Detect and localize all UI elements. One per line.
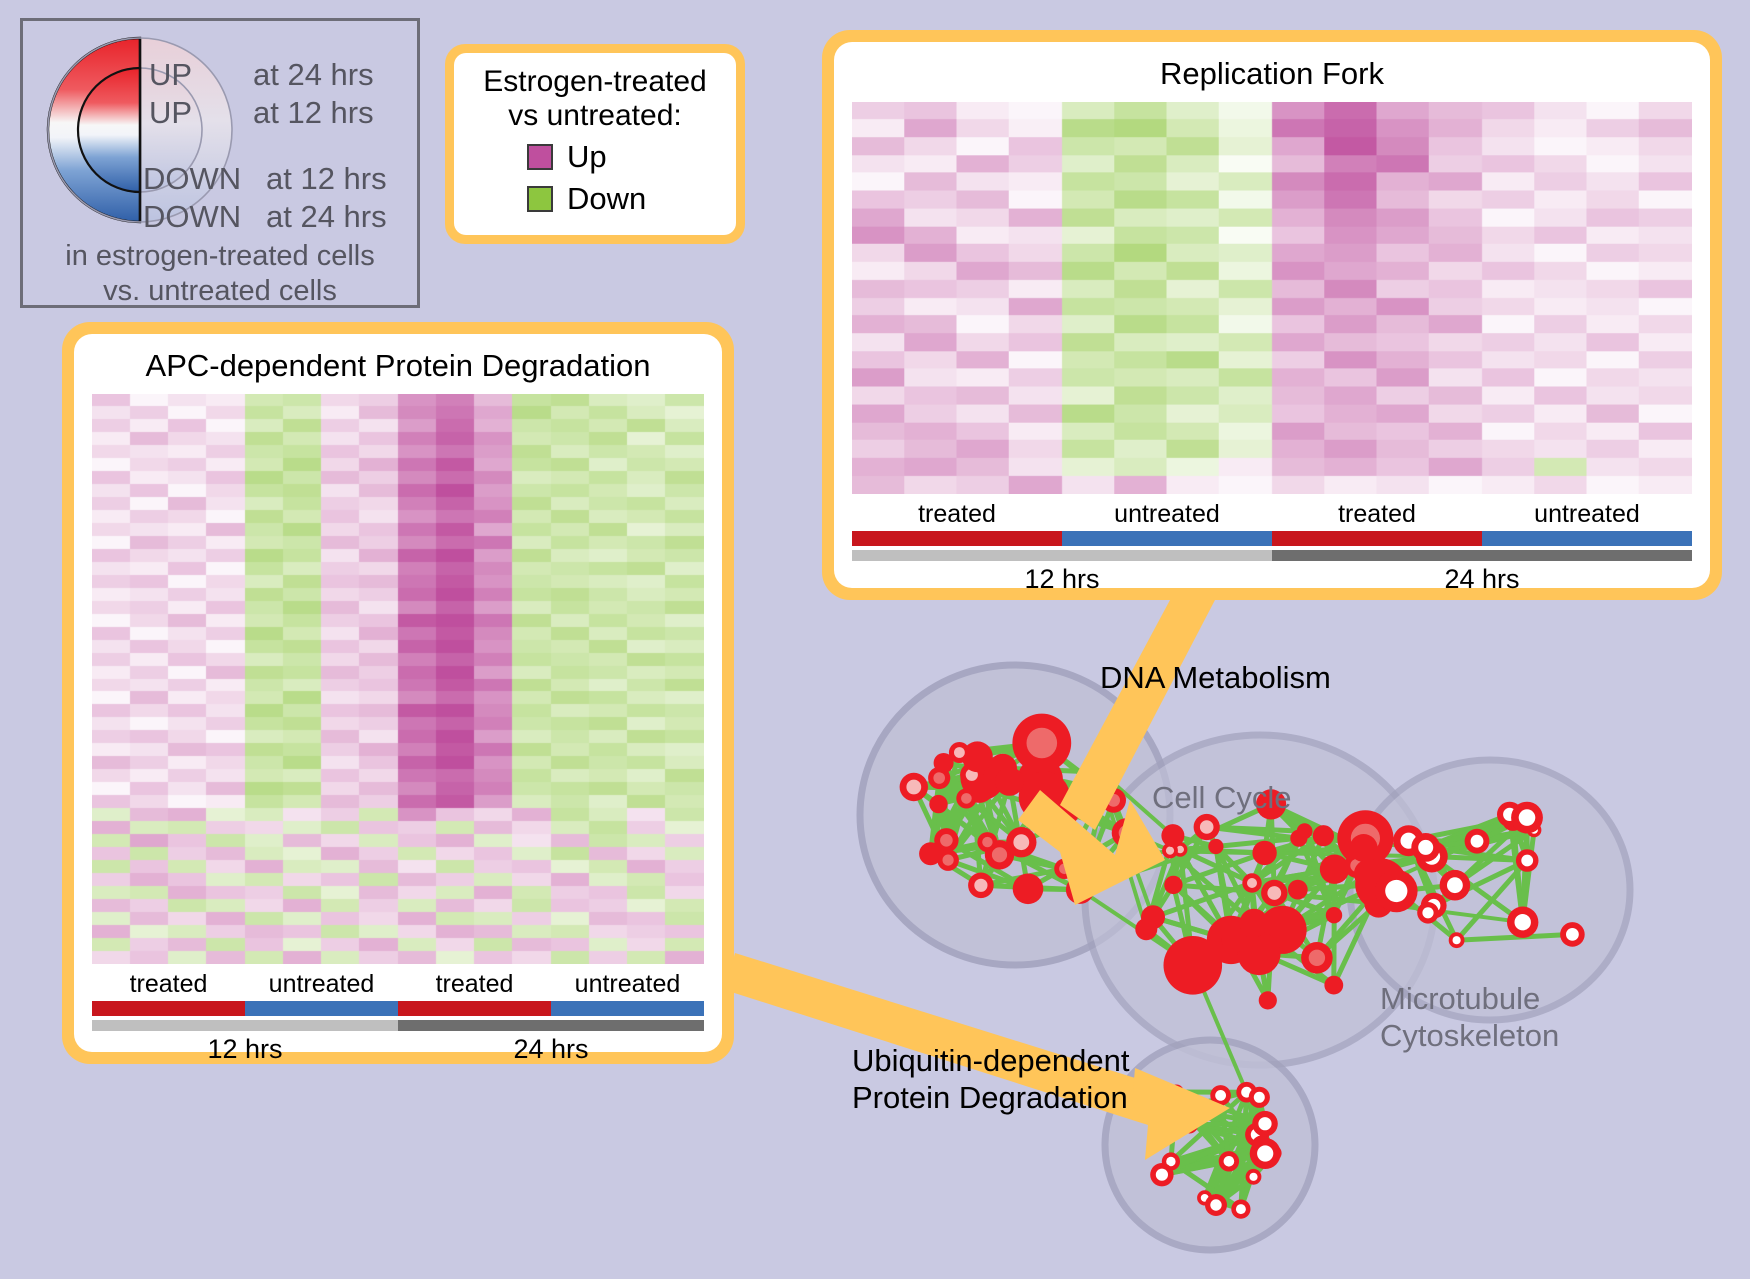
axis-apc-degradation: treateduntreatedtreateduntreated 12 hrs2… [92,970,704,1065]
panel-apc-degradation-title: APC-dependent Protein Degradation [92,348,704,384]
network-node[interactable] [1560,922,1585,947]
network-node[interactable] [1516,849,1539,872]
network-node[interactable] [1013,874,1044,905]
group-bar-replication-3 [1482,531,1692,546]
group-label-replication-2: treated [1272,500,1482,529]
group-labels-apc: treateduntreatedtreateduntreated [92,970,704,999]
axis-replication-fork: treateduntreatedtreateduntreated 12 hrs2… [852,500,1692,595]
network-node[interactable] [1135,918,1157,940]
heatmap-apc-degradation [92,394,704,964]
panel-apc-degradation: APC-dependent Protein Degradation treate… [62,322,734,1064]
network-node[interactable] [1246,1169,1262,1185]
network-node[interactable] [1324,976,1343,995]
network-node[interactable] [1240,909,1269,938]
network-node[interactable] [1205,1194,1227,1216]
legend-color-wheel: UP at 24 hrs UP at 12 hrs DOWN at 12 hrs… [20,18,420,308]
up-label: Up [567,139,663,175]
network-node[interactable] [1006,827,1036,857]
time-labels-apc: 12 hrs24 hrs [92,1034,704,1065]
network-node[interactable] [900,773,928,801]
cluster-label-microtubule-line-2: Cytoskeleton [1380,1017,1559,1054]
network-node[interactable] [1326,907,1342,923]
network-node[interactable] [1440,870,1471,901]
cluster-label-ubiquitin-degradation: Ubiquitin-dependent Protein Degradation [852,1042,1130,1116]
wheel-time-2: at 12 hrs [266,161,387,197]
group-label-apc-1: untreated [245,970,398,999]
group-bar-apc-3 [551,1001,704,1016]
group-bar-apc-1 [245,1001,398,1016]
legend-footer-line-2: vs. untreated cells [23,274,417,309]
time-bar-apc-0 [92,1020,398,1031]
time-label-replication-1: 24 hrs [1272,564,1692,595]
network-node[interactable] [1417,902,1439,924]
cluster-label-ubiquitin-line-2: Protein Degradation [852,1079,1130,1116]
legend-up-down: Estrogen-treated vs untreated: Up Down [445,44,745,244]
cluster-label-microtubule-cytoskeleton: Microtubule Cytoskeleton [1380,980,1559,1054]
network-node[interactable] [1054,859,1074,879]
group-label-replication-1: untreated [1062,500,1272,529]
network-node[interactable] [1210,1085,1231,1106]
legend-title-line-1: Estrogen-treated [464,65,726,99]
cluster-label-microtubule-line-1: Microtubule [1380,980,1559,1017]
network-node[interactable] [977,832,997,852]
network-node[interactable] [1164,876,1182,894]
network-node[interactable] [1449,932,1465,948]
down-swatch-icon [527,186,553,212]
legend-up-down-inner: Estrogen-treated vs untreated: Up Down [454,53,736,235]
network-node[interactable] [1181,1116,1199,1134]
network-node[interactable] [1313,825,1334,846]
network-node[interactable] [1161,824,1184,847]
panel-replication-fork: Replication Fork treateduntreatedtreated… [822,30,1722,600]
cluster-label-cell-cycle: Cell Cycle [1152,780,1292,816]
network-node[interactable] [1320,855,1349,884]
wheel-value-0: UP [149,57,192,93]
legend-item-down: Down [464,181,726,217]
wheel-value-2: DOWN [143,161,241,197]
network-node[interactable] [1511,802,1543,834]
group-bar-apc-0 [92,1001,245,1016]
network-node[interactable] [1507,907,1538,938]
legend-footer: in estrogen-treated cells vs. untreated … [23,239,417,310]
time-color-bar-apc [92,1020,704,1031]
network-node[interactable] [1301,942,1333,974]
network-node[interactable] [1242,873,1261,892]
cluster-label-ubiquitin-line-1: Ubiquitin-dependent [852,1042,1130,1079]
network-node[interactable] [1465,829,1490,854]
group-label-replication-0: treated [852,500,1062,529]
network-node[interactable] [1150,1163,1173,1186]
wheel-time-0: at 24 hrs [253,57,374,93]
group-bar-replication-1 [1062,531,1272,546]
network-node[interactable] [1112,818,1141,847]
group-label-apc-0: treated [92,970,245,999]
network-node[interactable] [1249,1087,1270,1108]
figure-canvas: UP at 24 hrs UP at 12 hrs DOWN at 12 hrs… [0,0,1750,1279]
time-labels-replication: 12 hrs24 hrs [852,564,1692,595]
network-node[interactable] [1066,876,1094,904]
time-label-apc-1: 24 hrs [398,1034,704,1065]
up-swatch-icon [527,144,553,170]
wheel-time-1: at 12 hrs [253,95,374,131]
network-node[interactable] [995,767,1024,796]
network-node[interactable] [1219,1151,1239,1171]
group-label-apc-2: treated [398,970,551,999]
group-color-bar-apc [92,1001,704,1016]
network-node[interactable] [1252,841,1276,865]
network-node[interactable] [1208,839,1223,854]
network-edge [1334,869,1335,985]
network-node[interactable] [1350,834,1378,862]
network-node[interactable] [1259,991,1277,1009]
network-node[interactable] [1288,880,1308,900]
network-node[interactable] [1252,1111,1278,1137]
legend-footer-line-1: in estrogen-treated cells [23,239,417,274]
network-diagram [800,600,1750,1279]
legend-item-up: Up [464,139,726,175]
network-node[interactable] [956,788,976,808]
network-node[interactable] [1375,870,1418,913]
time-bar-replication-1 [1272,550,1692,561]
panel-replication-fork-inner: Replication Fork treateduntreatedtreated… [834,42,1710,588]
group-label-apc-3: untreated [551,970,704,999]
wheel-value-3: DOWN [143,199,241,235]
group-color-bar-replication [852,531,1692,546]
time-bar-replication-0 [852,550,1272,561]
wheel-time-3: at 24 hrs [266,199,387,235]
network-node[interactable] [1411,833,1440,862]
network-node[interactable] [1058,803,1079,824]
heatmap-replication-fork [852,102,1692,494]
legend-up-down-title: Estrogen-treated vs untreated: [464,65,726,133]
time-label-replication-0: 12 hrs [852,564,1272,595]
group-bar-replication-2 [1272,531,1482,546]
time-label-apc-0: 12 hrs [92,1034,398,1065]
network-node[interactable] [1012,714,1071,773]
group-labels-replication: treateduntreatedtreateduntreated [852,500,1692,529]
network-node[interactable] [1290,830,1307,847]
network-node[interactable] [919,842,942,865]
network-node[interactable] [1095,781,1114,800]
network-node[interactable] [1231,1200,1250,1219]
legend-title-line-2: vs untreated: [464,99,726,133]
time-bar-apc-1 [398,1020,704,1031]
panel-apc-degradation-inner: APC-dependent Protein Degradation treate… [74,334,722,1052]
network-node[interactable] [1169,1085,1184,1100]
group-label-replication-3: untreated [1482,500,1692,529]
network-node[interactable] [934,753,954,773]
network-node[interactable] [1250,1138,1281,1169]
network-node[interactable] [1194,814,1220,840]
group-bar-apc-2 [398,1001,551,1016]
wheel-value-1: UP [149,95,192,131]
panel-replication-fork-title: Replication Fork [852,56,1692,92]
network-node[interactable] [1261,880,1287,906]
cluster-label-dna-metabolism: DNA Metabolism [1100,660,1331,696]
network-node[interactable] [968,873,994,899]
down-label: Down [567,181,663,217]
group-bar-replication-0 [852,531,1062,546]
network-node[interactable] [929,795,947,813]
time-color-bar-replication [852,550,1692,561]
